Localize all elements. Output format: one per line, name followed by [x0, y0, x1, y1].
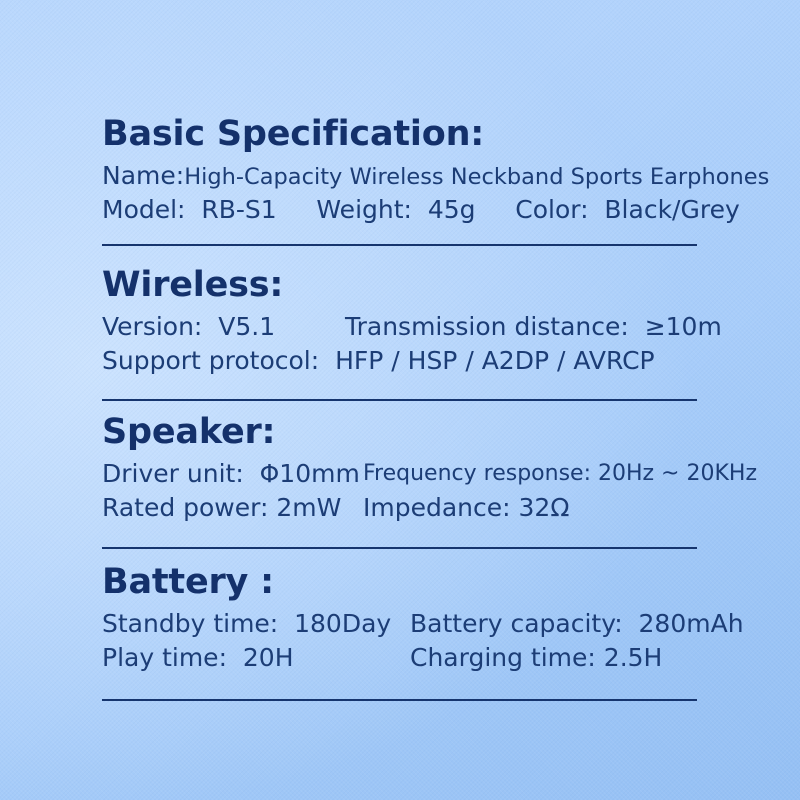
spec-cell-name: Name:High-Capacity Wireless Neckband Spo… [102, 159, 769, 194]
specification-sheet: Basic Specification: Name:High-Capacity … [0, 0, 800, 800]
section-heading-basic: Basic Specification: [102, 112, 698, 156]
spec-row-driver-frequency: Driver unit: Φ10mm Frequency response: 2… [102, 457, 698, 491]
spec-cell-frequency-response: Frequency response: 20Hz ~ 20KHz [363, 457, 757, 491]
spec-label-name: Name: [102, 161, 184, 190]
section-rows-wireless: Version: V5.1 Transmission distance: ≥10… [102, 310, 698, 378]
spec-cell-impedance: Impedance: 32Ω [363, 491, 569, 525]
section-basic-specification: Basic Specification: Name:High-Capacity … [102, 112, 698, 227]
spec-row-model: Model: RB-S1 Weight: 45g Color: Black/Gr… [102, 193, 698, 227]
section-divider-3 [102, 547, 697, 549]
spec-row-name: Name:High-Capacity Wireless Neckband Spo… [102, 159, 698, 193]
spec-row-power-impedance: Rated power: 2mW Impedance: 32Ω [102, 491, 698, 525]
spec-cell-rated-power: Rated power: 2mW [102, 491, 341, 525]
spec-cell-driver-unit: Driver unit: Φ10mm [102, 457, 360, 491]
section-rows-battery: Standby time: 180Day Battery capacity: 2… [102, 607, 698, 675]
spec-cell-play-time: Play time: 20H [102, 641, 294, 675]
spec-cell-support-protocol: Support protocol: HFP / HSP / A2DP / AVR… [102, 344, 655, 378]
section-rows-speaker: Driver unit: Φ10mm Frequency response: 2… [102, 457, 698, 525]
section-divider-2 [102, 399, 697, 401]
section-rows-basic: Name:High-Capacity Wireless Neckband Spo… [102, 159, 698, 227]
spec-value-name: High-Capacity Wireless Neckband Sports E… [184, 164, 769, 190]
spec-cell-transmission-distance: Transmission distance: ≥10m [345, 310, 722, 344]
spec-cell-standby-time: Standby time: 180Day [102, 607, 391, 641]
spec-row-standby-capacity: Standby time: 180Day Battery capacity: 2… [102, 607, 698, 641]
spec-cell-model-weight-color: Model: RB-S1 Weight: 45g Color: Black/Gr… [102, 193, 740, 227]
spec-row-play-charging: Play time: 20H Charging time: 2.5H [102, 641, 698, 675]
section-wireless: Wireless: Version: V5.1 Transmission dis… [102, 263, 698, 378]
section-heading-wireless: Wireless: [102, 263, 698, 307]
section-speaker: Speaker: Driver unit: Φ10mm Frequency re… [102, 410, 698, 525]
section-divider-4 [102, 699, 697, 701]
spec-row-support-protocol: Support protocol: HFP / HSP / A2DP / AVR… [102, 344, 698, 378]
section-heading-speaker: Speaker: [102, 410, 698, 454]
spec-cell-version: Version: V5.1 [102, 310, 275, 344]
section-heading-battery: Battery : [102, 560, 698, 604]
spec-cell-battery-capacity: Battery capacity: 280mAh [410, 607, 744, 641]
section-battery: Battery : Standby time: 180Day Battery c… [102, 560, 698, 675]
spec-cell-charging-time: Charging time: 2.5H [410, 641, 662, 675]
section-divider-1 [102, 244, 697, 246]
spec-row-version: Version: V5.1 Transmission distance: ≥10… [102, 310, 698, 344]
